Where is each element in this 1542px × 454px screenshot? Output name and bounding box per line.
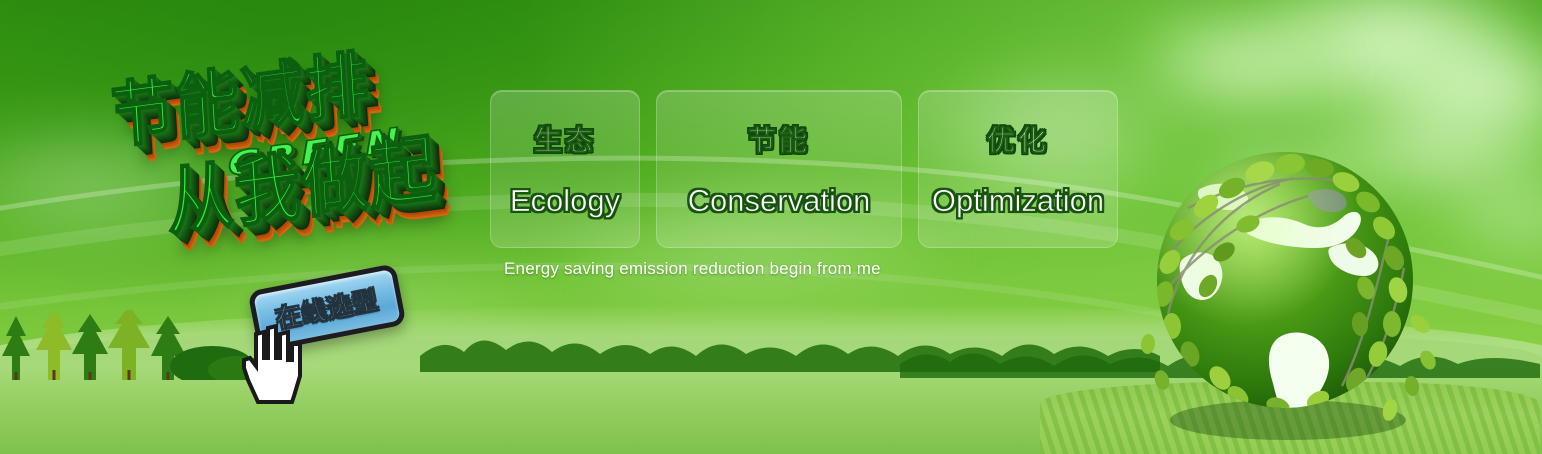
feature-card-conservation[interactable]: 节能 Conservation <box>656 90 902 248</box>
feature-card-ecology[interactable]: 生态 Ecology <box>490 90 640 248</box>
feature-card-en-label: Conservation <box>688 183 871 219</box>
hero-title-artwork: 节能减排 GREEN 从我做起 <box>94 30 496 268</box>
feature-card-cn-label: 节能 <box>748 119 810 159</box>
feature-card-en-label: Optimization <box>932 183 1104 219</box>
feature-card-en-label: Ecology <box>510 183 620 219</box>
feature-card-optimization[interactable]: 优化 Optimization <box>918 90 1118 248</box>
feature-card-cn-label: 优化 <box>987 119 1049 159</box>
feature-card-list: 生态 Ecology 节能 Conservation 优化 Optimizati… <box>490 90 1118 248</box>
leafy-globe-icon <box>1128 128 1442 442</box>
banner-tagline: Energy saving emission reduction begin f… <box>504 259 881 279</box>
green-energy-banner: 节能减排 GREEN 从我做起 生态 Ecology 节能 Conservati… <box>0 0 1542 454</box>
hand-pointer-icon <box>238 318 310 404</box>
feature-card-cn-label: 生态 <box>534 119 596 159</box>
